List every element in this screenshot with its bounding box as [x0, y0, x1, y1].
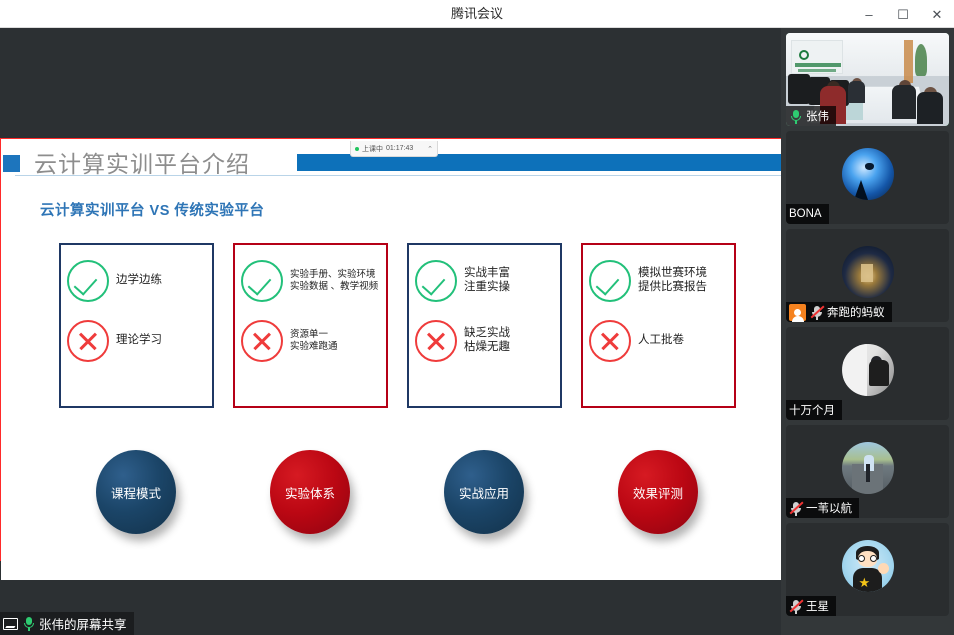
shared-content-stage: 云计算实训平台介绍 云计算实训平台 VS 传统实验平台 上课中 01:17:43… [0, 28, 781, 635]
share-status-bar: 张伟的屏幕共享 [0, 608, 781, 635]
microphone-muted-icon [810, 305, 823, 320]
close-button[interactable]: ✕ [920, 0, 954, 28]
participant-name: 十万个月 [789, 402, 835, 418]
check-circle-icon [67, 260, 109, 302]
participant-tile[interactable]: 一苇以航 [786, 425, 949, 518]
avatar [842, 442, 894, 494]
app-title: 腾讯会议 [0, 0, 954, 28]
check-circle-icon [589, 260, 631, 302]
pro-row: 实战丰富 注重实操 [415, 260, 510, 302]
pro-row: 边学边练 [67, 260, 162, 302]
minimize-icon: – [865, 8, 872, 21]
participant-name: BONA [789, 208, 822, 220]
avatar: ★ [842, 540, 894, 592]
con-text: 理论学习 [116, 334, 162, 348]
comparison-column: 边学边练 理论学习 [59, 243, 214, 408]
check-circle-icon [415, 260, 457, 302]
con-row: 缺乏实战 枯燥无趣 [415, 320, 510, 362]
close-icon: ✕ [932, 8, 943, 21]
con-row: 理论学习 [67, 320, 162, 362]
participant-name: 一苇以航 [806, 500, 852, 516]
minimize-button[interactable]: – [852, 0, 886, 28]
category-bubble: 课程模式 [96, 450, 176, 534]
con-text: 资源单一 实验难跑通 [290, 329, 338, 352]
participant-tile[interactable]: BONA [786, 131, 949, 224]
participant-name: 王星 [806, 598, 829, 614]
pro-row: 实验手册、实验环境 实验数据 、教学视频 [241, 260, 378, 302]
maximize-icon: ☐ [897, 8, 909, 21]
bubble-label: 课程模式 [111, 483, 161, 502]
comparison-column: 实战丰富 注重实操 缺乏实战 枯燥无趣 [407, 243, 562, 408]
participant-name-bar: 张伟 [786, 106, 836, 126]
bubble-label: 实验体系 [285, 483, 335, 502]
participant-tile[interactable]: ★ 王星 [786, 523, 949, 616]
slide-accent-square [3, 155, 20, 172]
participant-name-bar: 王星 [786, 596, 836, 616]
host-badge-icon [789, 304, 806, 321]
cross-circle-icon [67, 320, 109, 362]
check-circle-icon [241, 260, 283, 302]
participant-name: 张伟 [806, 108, 829, 124]
screen-share-icon [3, 618, 18, 630]
cross-circle-icon [415, 320, 457, 362]
meeting-status-label: 上课中 [362, 144, 383, 154]
microphone-on-icon [22, 616, 35, 631]
cross-circle-icon [241, 320, 283, 362]
participant-tile[interactable]: 奔跑的蚂蚁 [786, 229, 949, 322]
meeting-status-pill[interactable]: 上课中 01:17:43 ⌃ [350, 141, 438, 157]
cross-circle-icon [589, 320, 631, 362]
meeting-elapsed-time: 01:17:43 [386, 145, 413, 152]
comparison-columns: 边学边练 理论学习 实验手册、实验环境 实验数据 、教学视频 资源单一 实验难跑… [1, 243, 781, 513]
participant-name: 奔跑的蚂蚁 [827, 304, 885, 320]
avatar [842, 148, 894, 200]
comparison-column: 模拟世赛环境 提供比赛报告 人工批卷 [581, 243, 736, 408]
share-status-tag: 张伟的屏幕共享 [0, 612, 134, 635]
comparison-column: 实验手册、实验环境 实验数据 、教学视频 资源单一 实验难跑通 [233, 243, 388, 408]
status-dot-icon [355, 147, 359, 151]
participant-name-bar: 十万个月 [786, 400, 842, 420]
category-bubble: 实战应用 [444, 450, 524, 534]
con-row: 资源单一 实验难跑通 [241, 320, 338, 362]
presentation-slide: 云计算实训平台介绍 云计算实训平台 VS 传统实验平台 上课中 01:17:43… [1, 139, 781, 580]
participant-tile[interactable]: 张伟 [786, 33, 949, 126]
pro-text: 模拟世赛环境 提供比赛报告 [638, 267, 707, 294]
pro-row: 模拟世赛环境 提供比赛报告 [589, 260, 707, 302]
participant-rail[interactable]: 张伟 BONA 奔跑的蚂蚁 十万个月 [781, 28, 954, 635]
window-controls: – ☐ ✕ [852, 0, 954, 28]
participant-tile[interactable]: 十万个月 [786, 327, 949, 420]
title-bar: 腾讯会议 – ☐ ✕ [0, 0, 954, 28]
pro-text: 实战丰富 注重实操 [464, 267, 510, 294]
avatar [842, 344, 894, 396]
chevron-up-icon: ⌃ [427, 145, 433, 153]
avatar [842, 246, 894, 298]
slide-divider [15, 175, 781, 176]
participant-name-bar: 一苇以航 [786, 498, 859, 518]
category-bubble: 效果评测 [618, 450, 698, 534]
maximize-button[interactable]: ☐ [886, 0, 920, 28]
participant-name-bar: 奔跑的蚂蚁 [786, 302, 892, 322]
slide-subtitle: 云计算实训平台 VS 传统实验平台 [40, 199, 264, 220]
slide-title: 云计算实训平台介绍 [34, 145, 250, 179]
microphone-muted-icon [789, 501, 802, 516]
pro-text: 边学边练 [116, 274, 162, 288]
microphone-on-icon [789, 109, 802, 124]
share-status-label: 张伟的屏幕共享 [39, 614, 127, 633]
con-text: 缺乏实战 枯燥无趣 [464, 327, 510, 354]
bubble-label: 实战应用 [459, 483, 509, 502]
con-text: 人工批卷 [638, 334, 684, 348]
participant-name-bar: BONA [786, 204, 829, 224]
category-bubble: 实验体系 [270, 450, 350, 534]
con-row: 人工批卷 [589, 320, 684, 362]
bubble-label: 效果评测 [633, 483, 683, 502]
microphone-muted-icon [789, 599, 802, 614]
pro-text: 实验手册、实验环境 实验数据 、教学视频 [290, 269, 378, 292]
